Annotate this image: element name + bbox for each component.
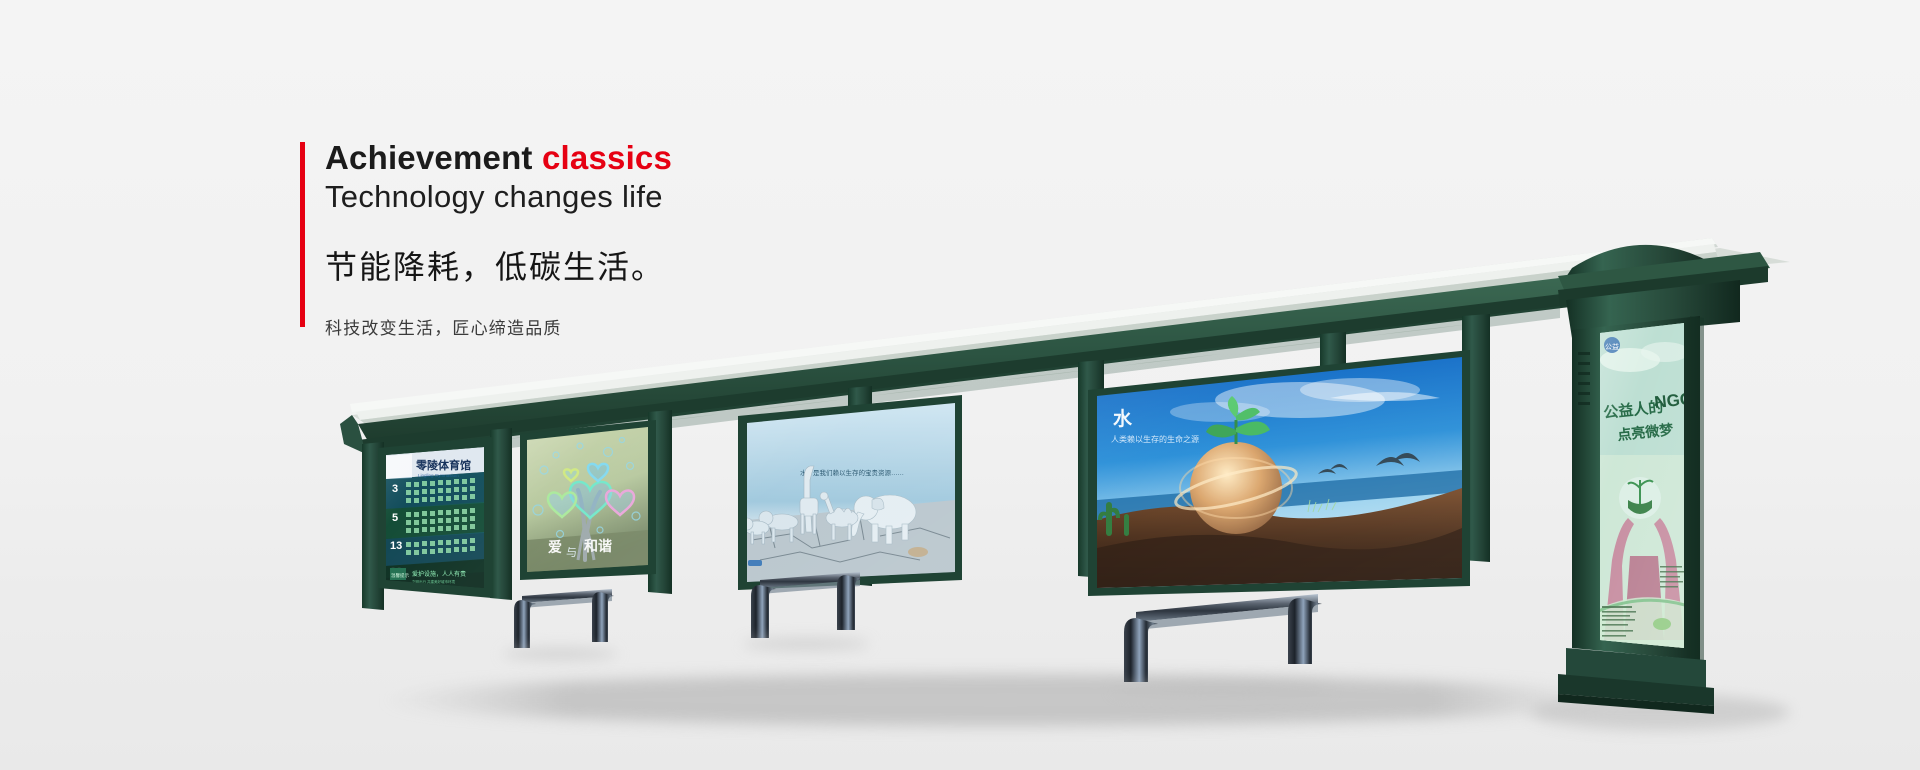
panel-ad-love-harmony[interactable]: 爱 与 和谐 xyxy=(520,420,656,580)
bench xyxy=(502,589,618,660)
panel-ad-water-life[interactable]: 水 人类赖以生存的生命之源 xyxy=(1088,350,1470,596)
bus-shelter-render: 公益 公益人的 NGO 点亮微梦 xyxy=(0,0,1920,770)
ground-shadow xyxy=(380,674,1620,726)
panel-schedule-board[interactable]: 零陵体育馆 Lingling Gymnasium 3 5 13 23 xyxy=(378,437,492,598)
bench xyxy=(742,572,870,650)
panel-ad-water-animals[interactable]: 水，是我们赖以生存的宝贵资源…… xyxy=(738,395,962,590)
banner-stage: Achievement classics Technology changes … xyxy=(0,0,1920,770)
vertical-lightbox-column[interactable]: 公益 公益人的 NGO 点亮微梦 xyxy=(1558,245,1770,714)
